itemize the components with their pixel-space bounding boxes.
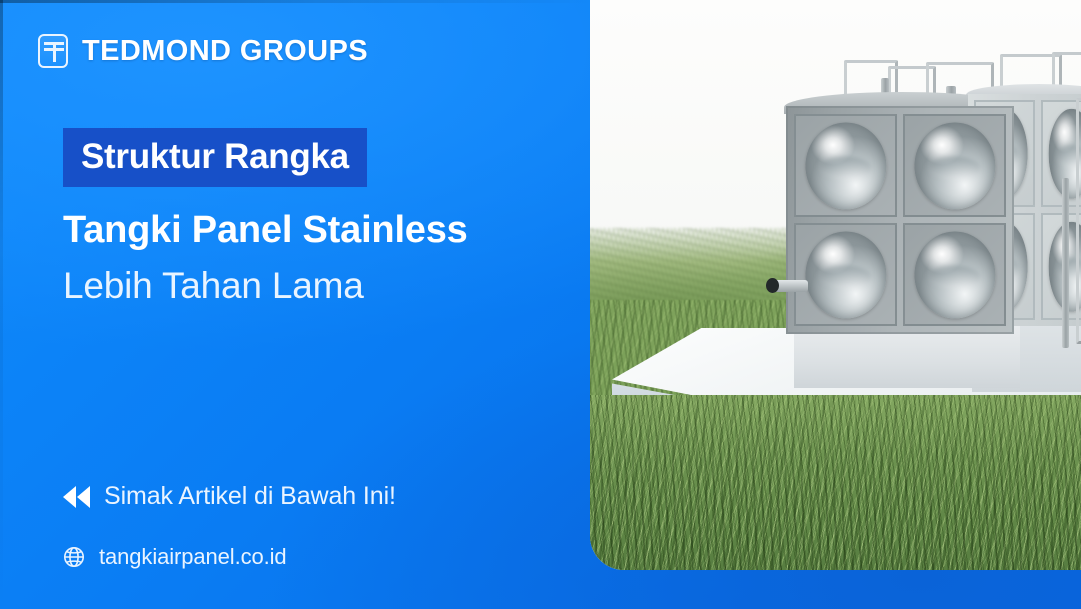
promo-banner: TEDMOND GROUPS Struktur Rangka Tangki Pa… [0, 0, 1081, 609]
near-grass-blades [590, 395, 1081, 570]
cta-row[interactable]: Simak Artikel di Bawah Ini! [63, 482, 396, 511]
tank-panel [794, 223, 897, 326]
tank-panel-icon [38, 34, 68, 68]
headline-block: Struktur Rangka Tangki Panel Stainless L… [63, 128, 563, 306]
tank-panel [1041, 100, 1081, 207]
tank-panel [903, 223, 1006, 326]
tank-outlet-nozzle [774, 280, 808, 292]
rewind-arrow-left-1 [63, 486, 76, 508]
website-row[interactable]: tangkiairpanel.co.id [62, 544, 287, 570]
near-grass [590, 395, 1081, 570]
brand-name: TEDMOND GROUPS [82, 35, 368, 68]
page-subtitle: Lebih Tahan Lama [63, 267, 563, 306]
tank-panel [794, 114, 897, 217]
stainless-panel-tank [786, 58, 1081, 388]
rewind-double-left-icon [63, 486, 90, 508]
tank-panel [903, 114, 1006, 217]
globe-icon [62, 545, 86, 569]
tank-base-front [794, 326, 1020, 388]
tank-panel-dimple [805, 122, 886, 209]
cta-label: Simak Artikel di Bawah Ini! [104, 482, 396, 511]
page-title: Tangki Panel Stainless [63, 211, 563, 251]
background-left-edge [0, 0, 3, 609]
tank-panel-dimple [914, 122, 995, 209]
website-url: tangkiairpanel.co.id [99, 544, 287, 570]
tank-panel-grid-front [786, 106, 1014, 334]
side-downpipe [1062, 178, 1069, 348]
tank-outlet-cap [766, 278, 779, 293]
brand-logo[interactable]: TEDMOND GROUPS [38, 34, 368, 68]
hero-image [590, 0, 1081, 570]
side-ladder-frame [1076, 98, 1081, 344]
tank-body-front [786, 106, 1014, 334]
tank-panel-dimple [805, 231, 886, 318]
rewind-arrow-left-2 [77, 486, 90, 508]
tank-panel-dimple [914, 231, 995, 318]
tank-panel-icon-stem [53, 42, 57, 62]
tank-panel [1041, 213, 1081, 320]
eyebrow-badge: Struktur Rangka [63, 128, 367, 187]
